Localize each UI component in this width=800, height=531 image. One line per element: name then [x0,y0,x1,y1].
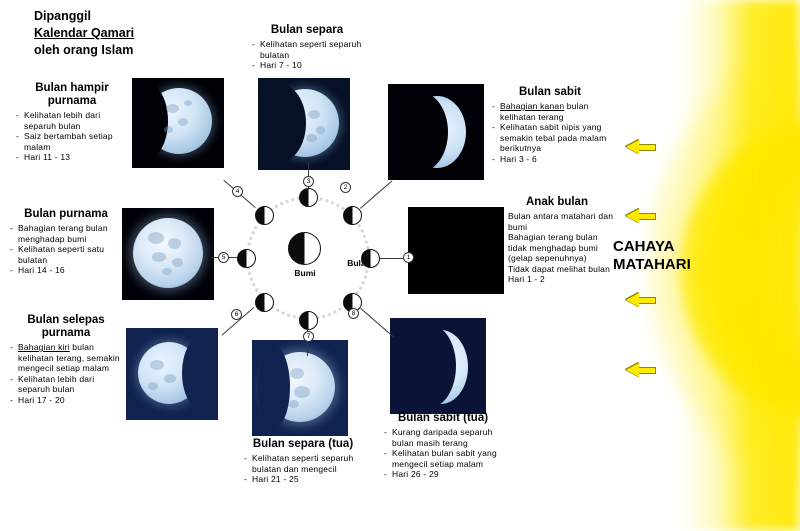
bullet-text: Hari 14 - 16 [18,265,122,276]
moon-position-7 [299,311,318,330]
bullet-text: Tidak dapat melihat bulan [508,264,614,275]
earth-marker [288,232,321,265]
phase-title: Bulan selepas purnama [10,314,122,340]
label-bulan-sabit: Bulan sabit -Bahagian kanan bulan keliha… [492,86,608,164]
moon-position-4 [255,206,274,225]
bullet-dash: - [500,232,508,264]
calendar-note: Dipanggil Kalendar Qamari oleh orang Isl… [34,8,134,59]
bullet-dash: - [500,211,508,232]
phase-title: Bulan sabit [492,86,608,99]
bullet-dash: - [384,469,392,480]
bullet-text: Kurang daripada separuh bulan masih tera… [392,427,502,448]
phase-title: Anak bulan [500,196,614,209]
photo-new-moon [408,207,504,294]
photo-first-quarter [258,78,350,170]
phase-bullets: -Bahagian kiri bulan kelihatan terang, s… [10,342,122,405]
bullet-text: Hari 26 - 29 [392,469,502,480]
bullet-text: Hari 21 - 25 [252,474,362,485]
bullet-dash: - [10,374,18,395]
bullet-dash: - [16,131,24,152]
label-bulan-separa-tua: Bulan separa (tua) -Kelihatan seperti se… [244,438,362,485]
phase-bullets: -Bahagian kanan bulan kelihatan terang -… [492,101,608,164]
phase-title: Bulan sabit (tua) [384,412,502,425]
position-badge-4: 4 [232,186,243,197]
bullet-dash: - [244,453,252,474]
bullet-text: Kelihatan lebih dari separuh bulan [24,110,128,131]
position-badge-2: 2 [340,182,351,193]
bullet-dash: - [16,110,24,131]
bullet-dash: - [500,264,508,275]
calendar-note-line2: Kalendar Qamari [34,25,134,42]
arrow-shaft [638,213,656,220]
arrow-shaft [638,297,656,304]
lunar-phase-diagram: Dipanggil Kalendar Qamari oleh orang Isl… [0,0,800,531]
photo-waxing-gibbous [132,78,224,168]
photo-full-moon [122,208,214,300]
bullet-text: Hari 1 - 2 [508,274,614,285]
sunlight-arrow-2 [626,209,656,224]
arrow-head-icon [626,209,639,223]
bullet-dash: - [492,154,500,165]
moon-position-3 [299,188,318,207]
bullet-text: Kelihatan seperti separuh bulatan dan me… [252,453,362,474]
phase-bullets: -Bulan antara matahari dan bumi -Bahagia… [500,211,614,285]
bullet-text: Saiz bertambah setiap malam [24,131,128,152]
sunlight-label: CAHAYA MATAHARI [613,238,691,274]
label-bulan-separa: Bulan separa -Kelihatan seperti separuh … [252,24,362,71]
photo-waning-gibbous [126,328,218,420]
position-badge-3: 3 [303,176,314,187]
sunlight-arrow-4 [626,363,656,378]
moon-position-2 [343,206,362,225]
bullet-text: Hari 17 - 20 [18,395,122,406]
label-bulan-purnama: Bulan purnama -Bahagian terang bulan men… [10,208,122,276]
bullet-dash: - [10,265,18,276]
bullet-text: Kelihatan seperti separuh bulatan [260,39,362,60]
phase-title: Bulan separa [252,24,362,37]
phase-title: Bulan hampir purnama [16,82,128,108]
bullet-text: Bahagian terang bulan tidak menghadap bu… [508,232,614,264]
bullet-text: Bahagian kiri bulan kelihatan terang, se… [18,342,122,374]
bullet-dash: - [10,223,18,244]
label-bulan-sabit-tua: Bulan sabit (tua) -Kurang daripada separ… [384,412,502,480]
arrow-shaft [638,144,656,151]
position-badge-5: 5 [218,252,229,263]
bullet-dash: - [244,474,252,485]
bullet-text: Bulan antara matahari dan bumi [508,211,614,232]
phase-title: Bulan separa (tua) [244,438,362,451]
label-bulan-selepas-purnama: Bulan selepas purnama -Bahagian kiri bul… [10,314,122,405]
bullet-underline: Bahagian kiri [18,342,70,352]
phase-bullets: -Kelihatan seperti separuh bulatan -Hari… [252,39,362,71]
bullet-text: Hari 3 - 6 [500,154,608,165]
connector-2 [360,180,392,208]
calendar-note-line1: Dipanggil [34,8,134,25]
position-badge-7: 7 [303,331,314,342]
bullet-dash: - [492,122,500,154]
bullet-text: Kelihatan bulan sabit yang mengecil seti… [392,448,502,469]
phase-bullets: -Kelihatan seperti separuh bulatan dan m… [244,453,362,485]
bullet-dash: - [384,448,392,469]
bullet-text: Kelihatan seperti satu bulatan [18,244,122,265]
bullet-text: Hari 11 - 13 [24,152,128,163]
calendar-note-line3: oleh orang Islam [34,42,134,59]
phase-bullets: -Kurang daripada separuh bulan masih ter… [384,427,502,480]
position-badge-6: 6 [231,309,242,320]
arrow-head-icon [626,293,639,307]
photo-waning-crescent [390,318,486,414]
bullet-dash: - [16,152,24,163]
bullet-text: Kelihatan lebih dari separuh bulan [18,374,122,395]
bullet-dash: - [500,274,508,285]
arrow-shaft [638,367,656,374]
sunlight-label-line2: MATAHARI [613,256,691,274]
label-anak-bulan: Anak bulan -Bulan antara matahari dan bu… [500,196,614,285]
photo-last-quarter [252,340,348,436]
sunlight-arrow-1 [626,140,656,155]
photo-waxing-crescent [388,84,484,180]
earth-label: Bumi [277,268,333,278]
bullet-text: Hari 7 - 10 [260,60,362,71]
moon-position-6 [255,293,274,312]
bullet-underline: Bahagian kanan [500,101,564,111]
bullet-text: Kelihatan sabit nipis yang semakin tebal… [500,122,608,154]
arrow-head-icon [626,363,639,377]
bullet-dash: - [384,427,392,448]
arrow-head-icon [626,140,639,154]
phase-bullets: -Bahagian terang bulan menghadap bumi -K… [10,223,122,276]
sunlight-arrow-3 [626,293,656,308]
sunlight-label-line1: CAHAYA [613,238,691,256]
bullet-dash: - [10,244,18,265]
sun-band [680,0,800,531]
bullet-dash: - [10,395,18,406]
phase-bullets: -Kelihatan lebih dari separuh bulan -Sai… [16,110,128,163]
bullet-dash: - [252,60,260,71]
moon-position-1 [361,249,380,268]
bullet-dash: - [492,101,500,122]
label-bulan-hampir-purnama: Bulan hampir purnama -Kelihatan lebih da… [16,82,128,163]
position-badge-8: 8 [348,308,359,319]
bullet-dash: - [252,39,260,60]
bullet-dash: - [10,342,18,374]
moon-position-5 [237,249,256,268]
bullet-text: Bahagian kanan bulan kelihatan terang [500,101,608,122]
position-badge-1: 1 [403,252,414,263]
phase-title: Bulan purnama [10,208,122,221]
bullet-text: Bahagian terang bulan menghadap bumi [18,223,122,244]
